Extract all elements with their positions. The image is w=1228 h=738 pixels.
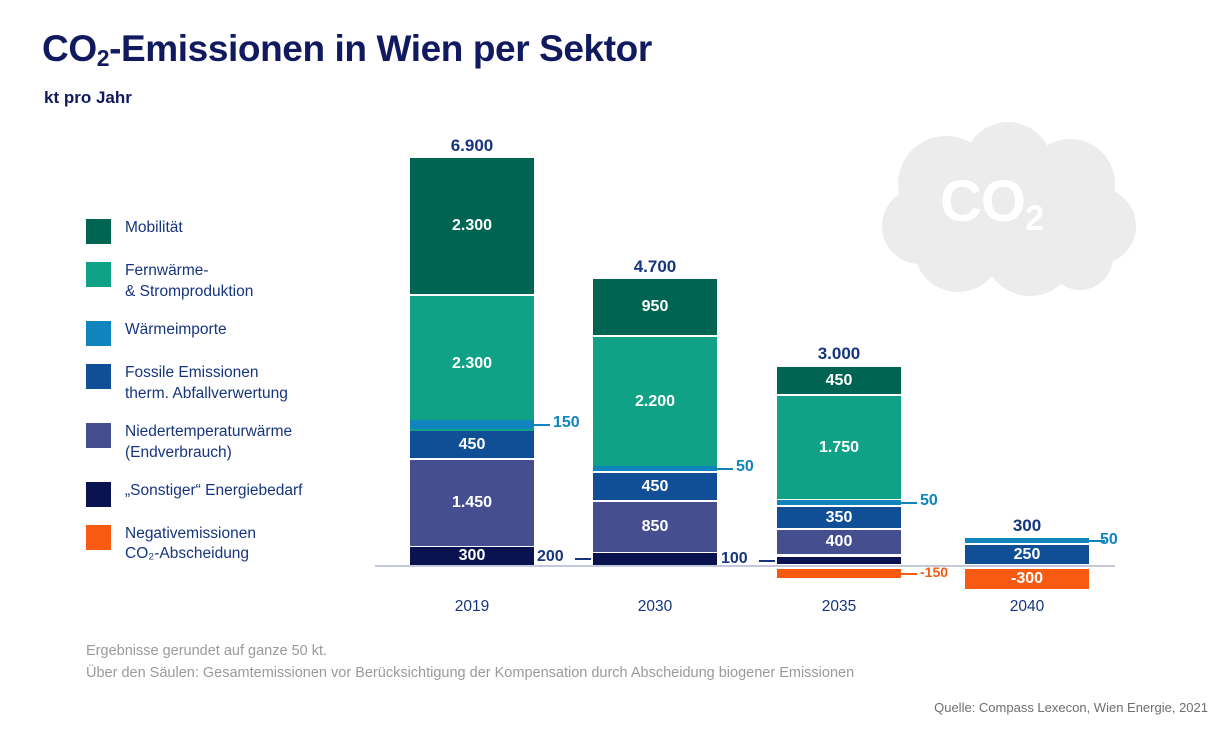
bar-segment-waermeimporte[interactable]: 150 <box>410 420 534 429</box>
bar-segment-fossile-emissionen[interactable]: 450 <box>593 473 717 500</box>
bar-segment-waermeimporte[interactable]: 50 <box>965 538 1089 543</box>
bar-segment-fernwaerme-strom[interactable]: 1.750 <box>777 396 901 499</box>
bar-segment-fernwaerme-strom[interactable]: 2.200 <box>593 337 717 467</box>
bar-segment-mobilitaet[interactable]: 450 <box>777 367 901 394</box>
bar-segment-negativemissionen[interactable]: -150 <box>777 569 901 578</box>
callout-2035-waermeimporte: 50 <box>920 492 938 510</box>
bar-segment-mobilitaet[interactable]: 950 <box>593 279 717 335</box>
bar-segment-fossile-emissionen[interactable]: 350 <box>777 507 901 528</box>
bar-segment-niedertemperaturwaerme[interactable]: 850 <box>593 502 717 552</box>
callout-leader-line-2030-waermeimporte <box>717 468 733 470</box>
x-axis-label-2035: 2035 <box>777 598 901 616</box>
callout-leader-line-2035-negativemissionen <box>901 573 917 575</box>
bar-segment-niedertemperaturwaerme[interactable]: 400 <box>777 530 901 554</box>
bar-segment-waermeimporte[interactable]: 50 <box>777 500 901 505</box>
bar-segment-fossile-emissionen[interactable]: 450 <box>410 431 534 458</box>
column-total-2035: 3.000 <box>777 344 901 364</box>
callout-leader-line-2030-sonstiger <box>575 558 591 560</box>
x-axis-label-2019: 2019 <box>410 598 534 616</box>
callout-2019-waermeimporte: 150 <box>553 414 580 432</box>
chart-footnote: Ergebnisse gerundet auf ganze 50 kt. Übe… <box>86 640 854 685</box>
callout-leader-line-2019-waermeimporte <box>534 424 550 426</box>
bar-segment-sonstiger-energiebedarf[interactable]: 100 <box>777 557 901 564</box>
callout-2030-sonstiger-energiebedarf: 200 <box>537 548 564 566</box>
bar-segment-fossile-emissionen[interactable]: 250 <box>965 545 1089 564</box>
bar-segment-sonstiger-energiebedarf[interactable]: 300 <box>410 547 534 565</box>
bar-segment-negativemissionen[interactable]: -300 <box>965 569 1089 589</box>
infographic-page: CO2-Emissionen in Wien per Sektor kt pro… <box>0 0 1228 738</box>
callout-leader-line-2035-sonstiger <box>759 560 775 562</box>
bar-segment-niedertemperaturwaerme[interactable]: 1.450 <box>410 460 534 546</box>
column-total-2030: 4.700 <box>593 257 717 277</box>
callout-2030-waermeimporte: 50 <box>736 458 754 476</box>
bar-segment-waermeimporte[interactable]: 50 <box>593 466 717 471</box>
column-total-2019: 6.900 <box>410 136 534 156</box>
x-axis-label-2030: 2030 <box>593 598 717 616</box>
callout-2035-sonstiger-energiebedarf: 100 <box>721 550 748 568</box>
callout-2040-waermeimporte: 50 <box>1100 531 1118 549</box>
column-total-2040: 300 <box>965 516 1089 536</box>
x-axis-label-2040: 2040 <box>965 598 1089 616</box>
bar-segment-sonstiger-energiebedarf[interactable]: 200 <box>593 553 717 565</box>
stacked-bar-chart: 6.900 2.300 2.300 150 450 1.450 300 150 … <box>0 0 1228 738</box>
callout-2035-negativemissionen: -150 <box>920 564 948 580</box>
callout-leader-line-2035-waermeimporte <box>901 502 917 504</box>
chart-source: Quelle: Compass Lexecon, Wien Energie, 2… <box>934 700 1208 715</box>
bar-segment-mobilitaet[interactable]: 2.300 <box>410 158 534 294</box>
bar-segment-fernwaerme-strom[interactable]: 2.300 <box>410 296 534 432</box>
